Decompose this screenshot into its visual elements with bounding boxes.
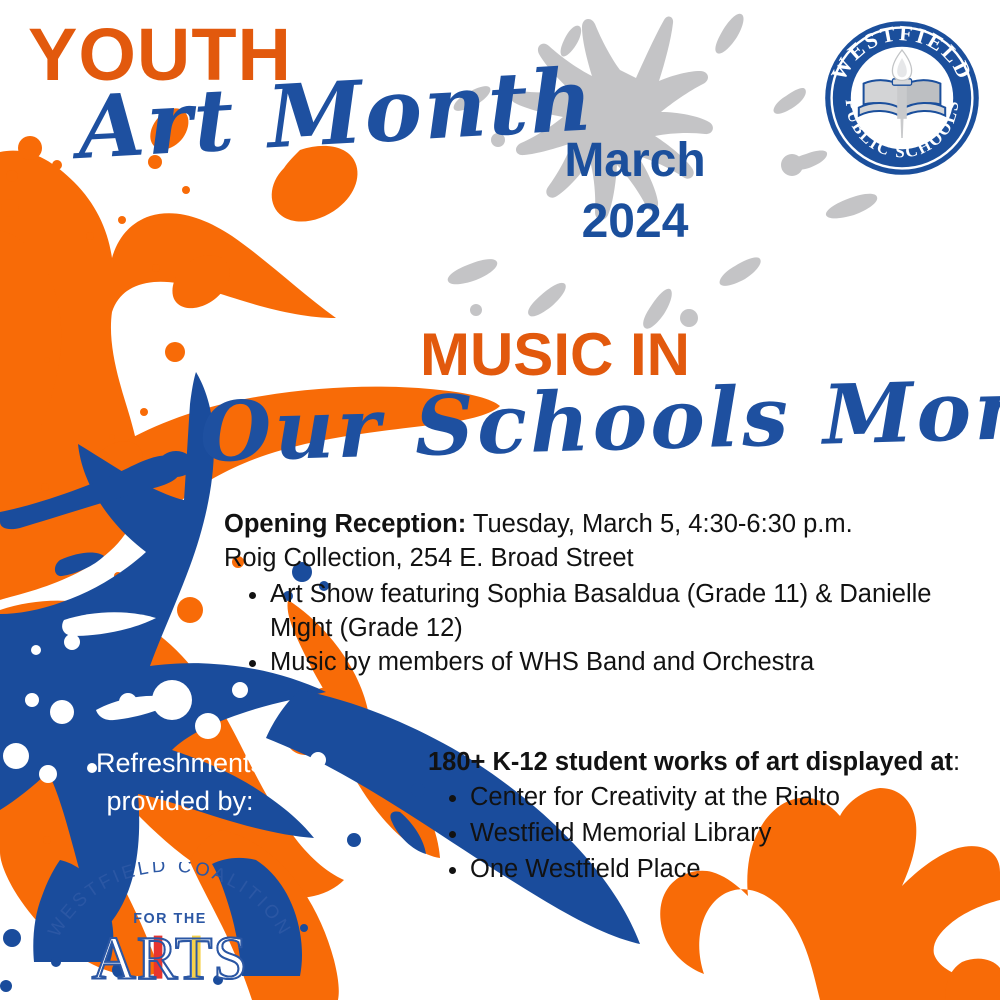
display-headline-bold: 180+ K-12 student works of art displayed…: [428, 748, 953, 776]
display-headline: 180+ K-12 student works of art displayed…: [428, 746, 973, 779]
headline-our-schools-month: Our Schools Month: [199, 366, 1000, 474]
opening-reception-line: Opening Reception: Tuesday, March 5, 4:3…: [224, 508, 954, 542]
list-item: Music by members of WHS Band and Orchest…: [270, 646, 954, 680]
list-item: Art Show featuring Sophia Basaldua (Grad…: [270, 578, 954, 646]
svg-text:ARTS: ARTS: [92, 925, 248, 992]
opening-reception-details: Tuesday, March 5, 4:30-6:30 p.m.: [466, 510, 852, 538]
westfield-coalition-for-the-arts-logo: WESTFIELD COALITION FOR THE ARTS ARTS: [36, 862, 304, 992]
list-item: One Westfield Place: [470, 852, 973, 888]
refreshments-line-2: provided by:: [64, 782, 296, 820]
opening-reception-venue: Roig Collection, 254 E. Broad Street: [224, 542, 954, 576]
display-location-bullets: Center for Creativity at the Rialto West…: [428, 780, 973, 888]
westfield-public-schools-seal-logo: WESTFIELD PUBLIC SCHOOLS: [822, 18, 982, 178]
list-item: Westfield Memorial Library: [470, 816, 973, 852]
display-headline-colon: :: [953, 748, 960, 776]
poster-canvas: YOUTH Art Month MUSIC IN Our Schools Mon…: [0, 0, 1000, 1000]
refreshments-line-1: Refreshments: [64, 744, 296, 782]
refreshments-note: Refreshments provided by:: [64, 744, 296, 821]
date-badge-year: 2024: [520, 191, 750, 252]
opening-reception-block: Opening Reception: Tuesday, March 5, 4:3…: [224, 508, 954, 680]
wca-arts-wordmark: ARTS ARTS: [92, 925, 248, 992]
list-item: Center for Creativity at the Rialto: [470, 780, 973, 816]
opening-reception-label: Opening Reception:: [224, 510, 466, 538]
opening-reception-bullets: Art Show featuring Sophia Basaldua (Grad…: [224, 578, 954, 680]
artwork-display-block: 180+ K-12 student works of art displayed…: [428, 746, 973, 888]
